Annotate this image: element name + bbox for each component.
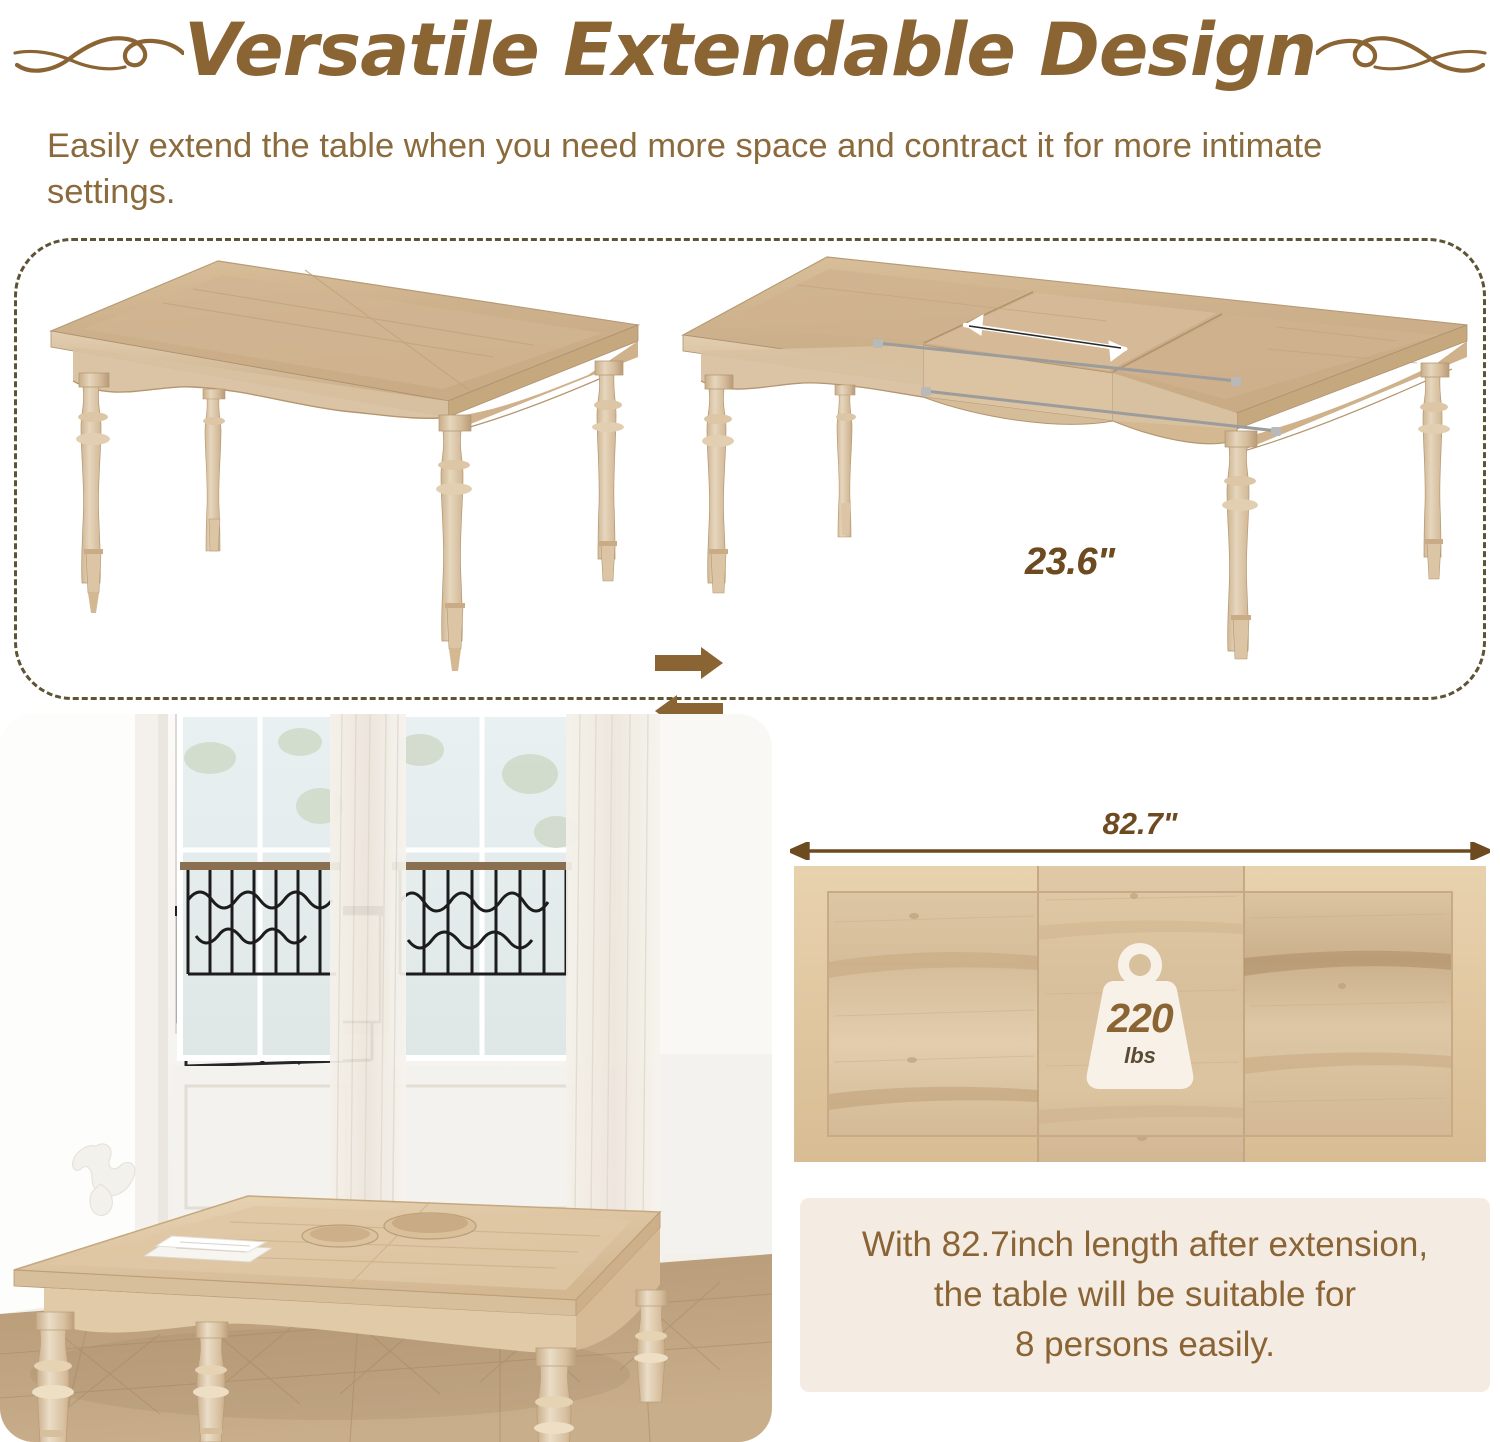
length-dimension-arrow <box>790 842 1490 860</box>
lifestyle-photo <box>0 714 772 1442</box>
weight-value: 220 <box>1080 995 1200 1042</box>
table-length-label: 82.7" <box>790 806 1490 842</box>
weight-capacity-badge: 220 lbs <box>1080 939 1200 1089</box>
leaf-width-label: 23.6" <box>1025 541 1114 584</box>
extendable-demo-panel: 23.6" 23.6" <box>14 238 1486 700</box>
left-flourish-ornament-icon <box>9 13 184 88</box>
page-subtitle: Easily extend the table when you need mo… <box>47 124 1437 216</box>
capacity-caption-box: With 82.7inch length after extension, th… <box>800 1198 1490 1392</box>
extended-table-illustration <box>677 253 1477 673</box>
tabletop-overhead-view: 220 lbs <box>794 866 1486 1162</box>
caption-line-2: the table will be suitable for <box>862 1270 1428 1320</box>
tabletop-dimension-section: 82.7" <box>790 806 1490 1166</box>
header-section: Versatile Extendable Design Easily exten… <box>0 0 1500 230</box>
caption-line-1: With 82.7inch length after extension, <box>862 1220 1428 1270</box>
compact-table-illustration <box>43 253 643 673</box>
right-flourish-ornament-icon <box>1316 13 1491 88</box>
page-title: Versatile Extendable Design <box>184 14 1316 87</box>
title-row: Versatile Extendable Design <box>0 2 1500 98</box>
caption-line-3: 8 persons easily. <box>862 1320 1428 1370</box>
weight-unit: lbs <box>1080 1043 1200 1069</box>
capacity-caption-text: With 82.7inch length after extension, th… <box>844 1220 1446 1369</box>
